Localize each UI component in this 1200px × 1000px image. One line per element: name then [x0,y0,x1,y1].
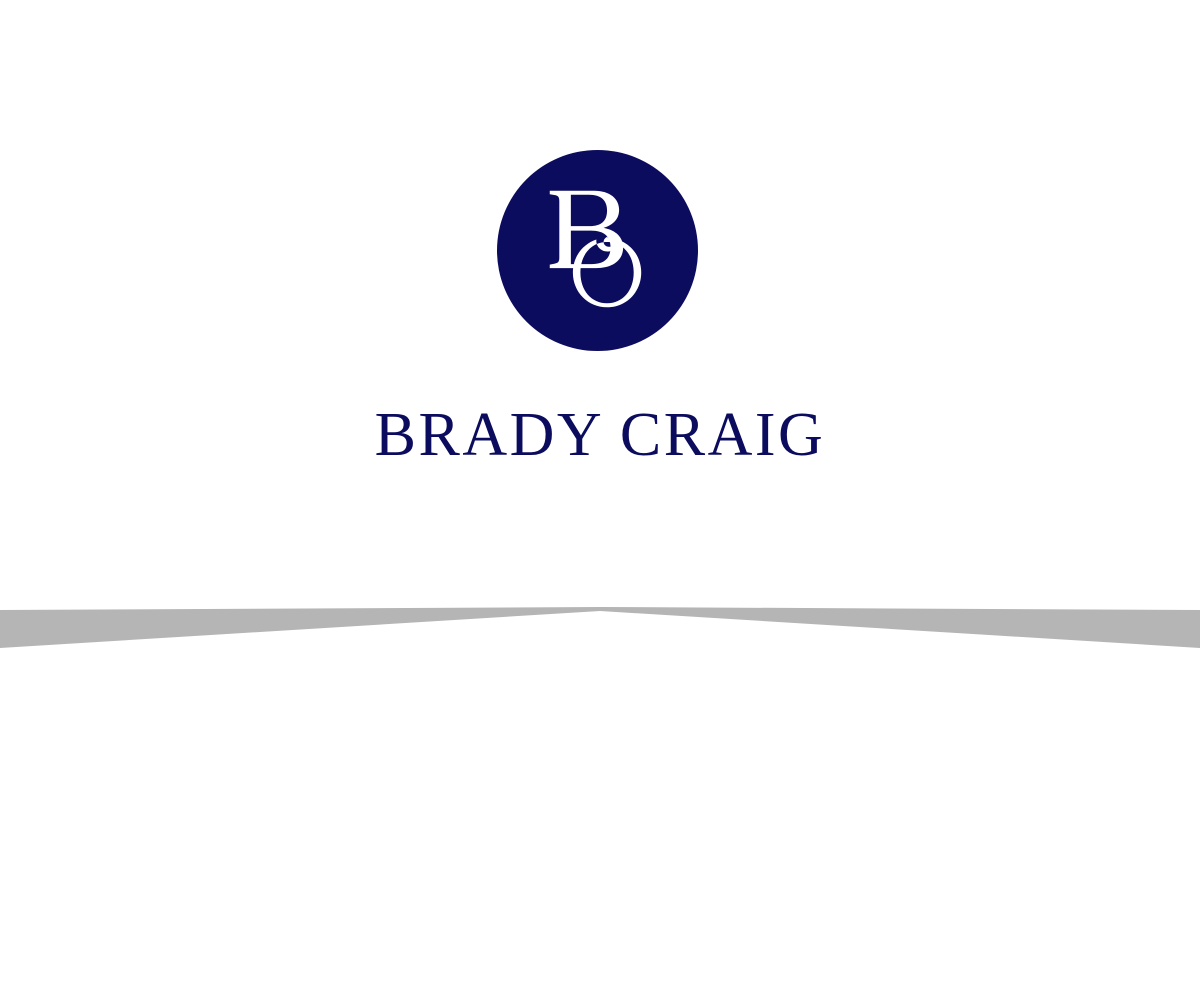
primary-logo-panel: BRADY CRAIG [0,0,1200,608]
logo-variations-panel: BRADY CRAIG [0,648,1200,1000]
primary-wordmark: BRADY CRAIG [0,404,1200,466]
bc-monogram-icon [497,150,698,351]
logo-presentation-canvas: BRADY CRAIG [0,0,1200,1000]
